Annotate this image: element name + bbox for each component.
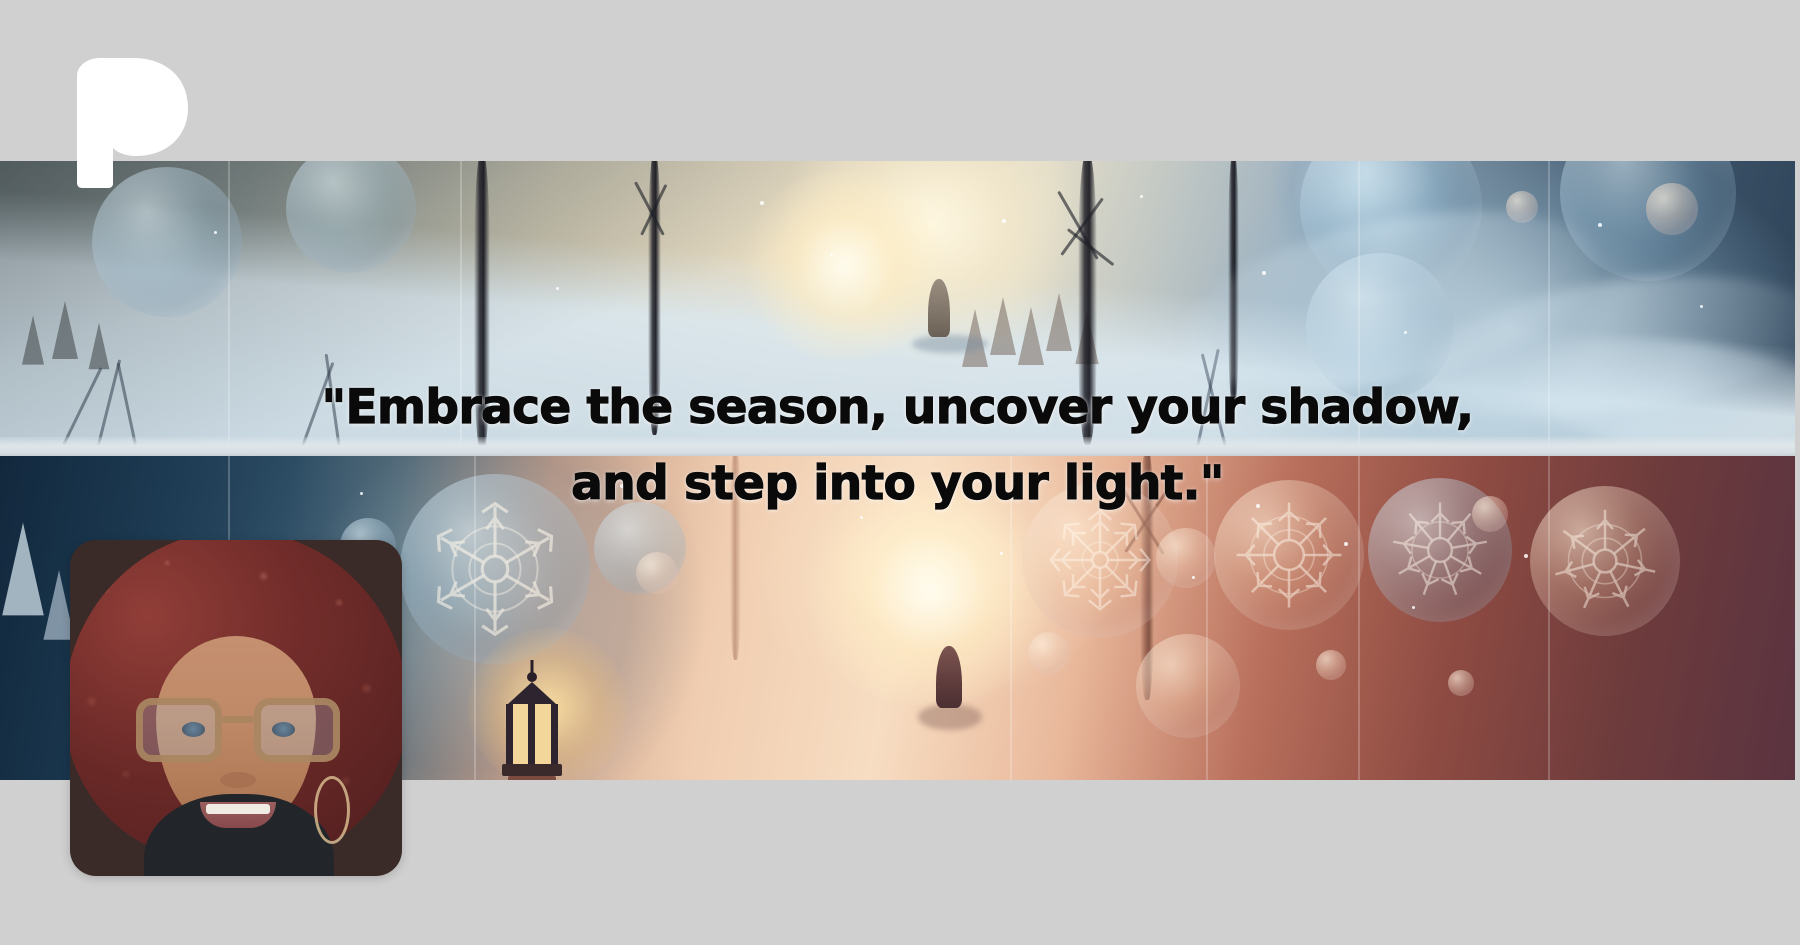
collage-seam bbox=[1206, 456, 1208, 780]
ice-planet-orb bbox=[92, 167, 242, 317]
pine-tree bbox=[990, 297, 1016, 355]
creator-avatar[interactable] bbox=[70, 540, 402, 876]
snow-fleck bbox=[1140, 195, 1143, 198]
patreon-logo[interactable] bbox=[70, 56, 188, 188]
star-fleck bbox=[860, 516, 863, 519]
avatar-nose bbox=[220, 772, 256, 788]
avatar-glasses-bridge bbox=[222, 716, 254, 723]
frost-grass bbox=[325, 354, 341, 446]
patreon-profile-header: "Embrace the season, uncover your shadow… bbox=[0, 0, 1800, 945]
pine-tree bbox=[22, 315, 44, 364]
bare-tree bbox=[730, 456, 741, 660]
collage-seam bbox=[228, 161, 230, 446]
snow-fleck bbox=[1700, 305, 1703, 308]
ice-planet-orb bbox=[286, 161, 416, 273]
collage-seam bbox=[1358, 161, 1360, 446]
snow-fleck bbox=[760, 201, 764, 205]
pine-tree bbox=[89, 323, 110, 369]
star-fleck bbox=[1524, 554, 1528, 558]
bare-tree bbox=[1078, 161, 1097, 445]
glowing-orb bbox=[1646, 183, 1698, 235]
star-fleck bbox=[360, 492, 363, 495]
avatar-teeth bbox=[206, 804, 270, 814]
collage-seam bbox=[1548, 456, 1550, 780]
walking-figure bbox=[936, 646, 962, 708]
lantern bbox=[492, 660, 572, 780]
star-fleck bbox=[1000, 552, 1003, 555]
glowing-orb bbox=[636, 552, 678, 594]
star-fleck bbox=[1344, 542, 1348, 546]
avatar-hoop-earring bbox=[314, 776, 350, 844]
glowing-orb bbox=[1316, 650, 1346, 680]
star-fleck bbox=[620, 484, 624, 488]
avatar-glasses bbox=[136, 698, 340, 764]
snowflake-mandala-icon bbox=[424, 498, 566, 640]
pine-tree bbox=[1046, 293, 1072, 351]
pine-tree bbox=[52, 301, 78, 359]
collage-seam bbox=[474, 456, 476, 780]
collage-seam bbox=[1548, 161, 1550, 446]
small-planet-orb bbox=[1136, 634, 1240, 738]
star-fleck bbox=[1412, 606, 1415, 609]
pine-tree bbox=[1018, 307, 1044, 365]
star-fleck bbox=[1256, 504, 1260, 508]
avatar-glasses-lens-left bbox=[136, 698, 222, 762]
snow-fleck bbox=[1404, 331, 1407, 334]
small-planet-orb bbox=[1028, 632, 1070, 674]
snowflake-mandala-icon bbox=[1548, 504, 1662, 618]
collage-seam bbox=[1010, 456, 1012, 780]
frost-grass bbox=[62, 367, 102, 446]
collage-seam bbox=[460, 161, 462, 446]
snow-fleck bbox=[556, 287, 559, 290]
walking-figure bbox=[928, 279, 950, 337]
snow-fleck bbox=[1598, 223, 1602, 227]
sun-glow bbox=[740, 171, 950, 361]
banner-top-scene bbox=[0, 161, 1795, 446]
avatar-glasses-lens-right bbox=[254, 698, 340, 762]
frost-grass bbox=[117, 363, 137, 446]
snow-fleck bbox=[830, 253, 833, 256]
small-planet-orb bbox=[1472, 496, 1508, 532]
snow-fleck bbox=[1262, 271, 1266, 275]
figure-shadow bbox=[912, 335, 988, 353]
light-glow bbox=[800, 476, 1060, 706]
bare-tree bbox=[474, 161, 490, 446]
snow-fleck bbox=[1002, 219, 1006, 223]
pine-tree bbox=[2, 523, 44, 616]
glowing-orb bbox=[1448, 670, 1474, 696]
star-fleck bbox=[1192, 576, 1195, 579]
snowflake-mandala-icon bbox=[1044, 504, 1156, 616]
collage-seam bbox=[1358, 456, 1360, 780]
snow-fleck bbox=[214, 231, 217, 234]
snowflake-mandala-icon bbox=[1232, 498, 1346, 612]
